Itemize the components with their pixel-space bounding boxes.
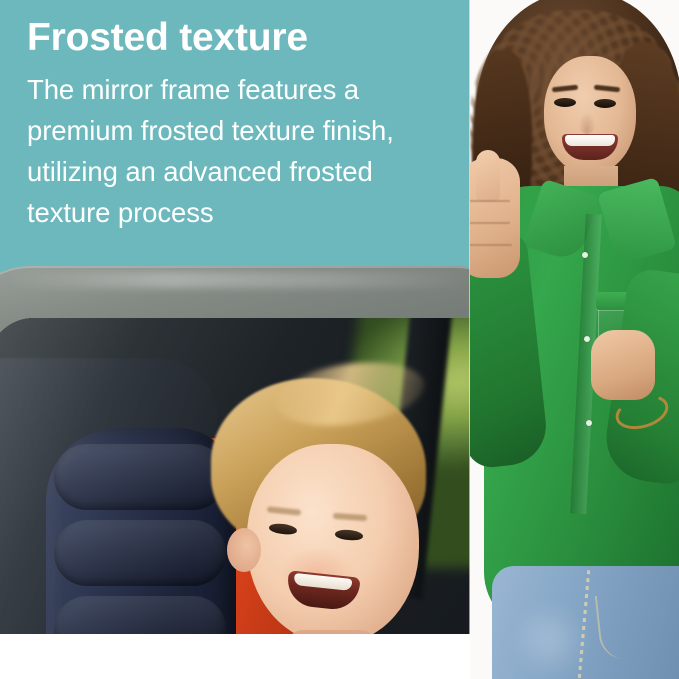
baby-mirror-photo <box>40 266 470 634</box>
left-feature-panel: Frosted texture The mirror frame feature… <box>0 0 470 634</box>
shirt-button <box>582 252 588 258</box>
knuckle-crease <box>470 244 512 246</box>
shirt-button <box>586 420 592 426</box>
bottom-white-band <box>0 634 470 679</box>
right-hand <box>591 330 655 400</box>
thumb <box>476 150 500 202</box>
nose <box>578 112 596 134</box>
mirror-frame <box>0 266 470 634</box>
child-teeth <box>293 573 352 591</box>
eye-left <box>554 98 576 107</box>
copy-block: Frosted texture The mirror frame feature… <box>27 14 447 233</box>
jeans-pocket <box>595 588 674 661</box>
body-copy: The mirror frame features a premium fros… <box>27 69 447 233</box>
right-lifestyle-panel: Smiling woman with curly dark hair givin… <box>470 0 679 679</box>
mirror-glass <box>0 318 470 634</box>
headline: Frosted texture <box>27 14 447 62</box>
woman-portrait <box>470 0 679 679</box>
shirt-button <box>584 336 590 342</box>
child-ear <box>227 528 261 572</box>
eye-right <box>594 99 616 108</box>
child-portrait <box>183 378 453 634</box>
knuckle-crease <box>470 222 510 224</box>
knuckle-crease <box>470 200 510 202</box>
product-feature-graphic: Frosted texture The mirror frame feature… <box>0 0 679 679</box>
teeth <box>565 135 615 146</box>
reflected-scene <box>0 318 470 634</box>
